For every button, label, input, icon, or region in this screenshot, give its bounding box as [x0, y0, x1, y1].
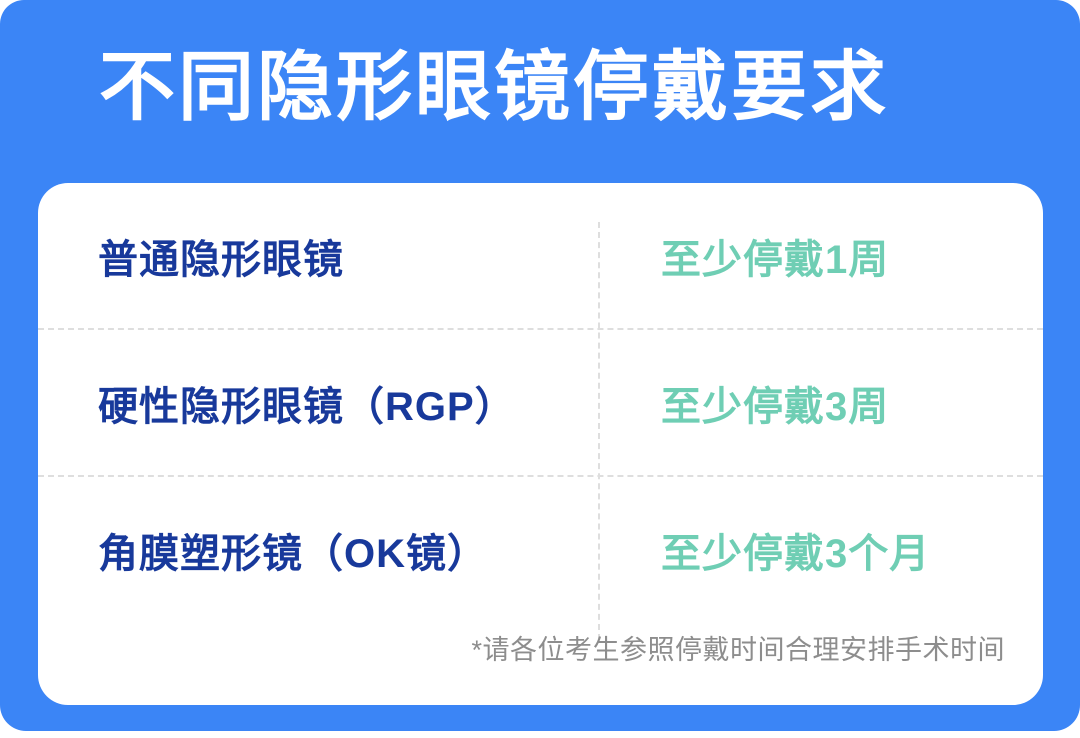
- comparison-table: 普通隐形眼镜 至少停戴1周 硬性隐形眼镜（RGP） 至少停戴3周 角膜塑形镜（O…: [38, 183, 1043, 622]
- lens-type-label: 角膜塑形镜（OK镜）: [98, 521, 488, 579]
- lens-type-label: 硬性隐形眼镜（RGP）: [98, 374, 516, 432]
- poster-root: 不同隐形眼镜停戴要求 普通隐形眼镜 至少停戴1周 硬性隐形眼镜（RGP） 至少停…: [0, 0, 1080, 738]
- table-row: 普通隐形眼镜 至少停戴1周: [38, 183, 1043, 328]
- table-row: 硬性隐形眼镜（RGP） 至少停戴3周: [38, 328, 1043, 475]
- blue-background-panel: 不同隐形眼镜停戴要求 普通隐形眼镜 至少停戴1周 硬性隐形眼镜（RGP） 至少停…: [0, 0, 1080, 731]
- footnote-text: *请各位考生参照停戴时间合理安排手术时间: [471, 628, 1005, 667]
- content-card: 普通隐形眼镜 至少停戴1周 硬性隐形眼镜（RGP） 至少停戴3周 角膜塑形镜（O…: [38, 183, 1043, 705]
- lens-type-label: 普通隐形眼镜: [98, 227, 344, 285]
- stop-wear-duration-value: 至少停戴3周: [661, 374, 889, 432]
- page-title: 不同隐形眼镜停戴要求: [99, 36, 999, 140]
- stop-wear-duration-value: 至少停戴3个月: [661, 521, 930, 579]
- stop-wear-duration-value: 至少停戴1周: [661, 227, 889, 285]
- table-row: 角膜塑形镜（OK镜） 至少停戴3个月: [38, 475, 1043, 622]
